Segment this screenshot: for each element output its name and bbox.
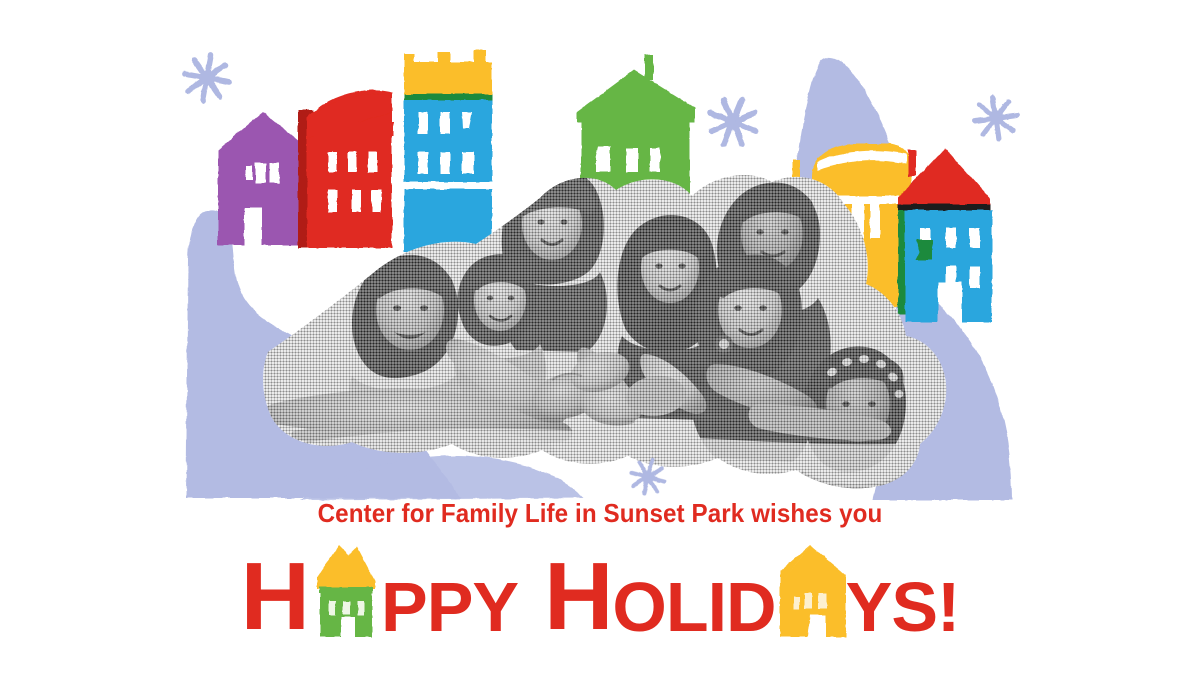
tagline: Center for Family Life in Sunset Park wi… [42,498,1158,528]
headline-letters-olid: OLID [612,577,775,639]
headline-letters-ppy: PPY [381,577,518,639]
headline-letter-h1: H [241,555,309,639]
headline-letters-ys-bang: YS! [846,577,960,639]
headline-house-glyph-yellow [770,541,854,639]
snowflake-bottom-center [627,456,668,497]
snowflake-top-left [180,51,233,104]
holiday-card: Center for Family Life in Sunset Park wi… [0,0,1200,675]
greeting-text-block: Center for Family Life in Sunset Park wi… [0,498,1200,639]
snowflake-mid-top [702,91,765,154]
headline-house-glyph-green [305,541,383,639]
snowflake-top-right [972,94,1020,142]
headline-happy-holidays: H PPY H OLID [0,534,1200,639]
headline-letter-h2: H [544,555,612,639]
